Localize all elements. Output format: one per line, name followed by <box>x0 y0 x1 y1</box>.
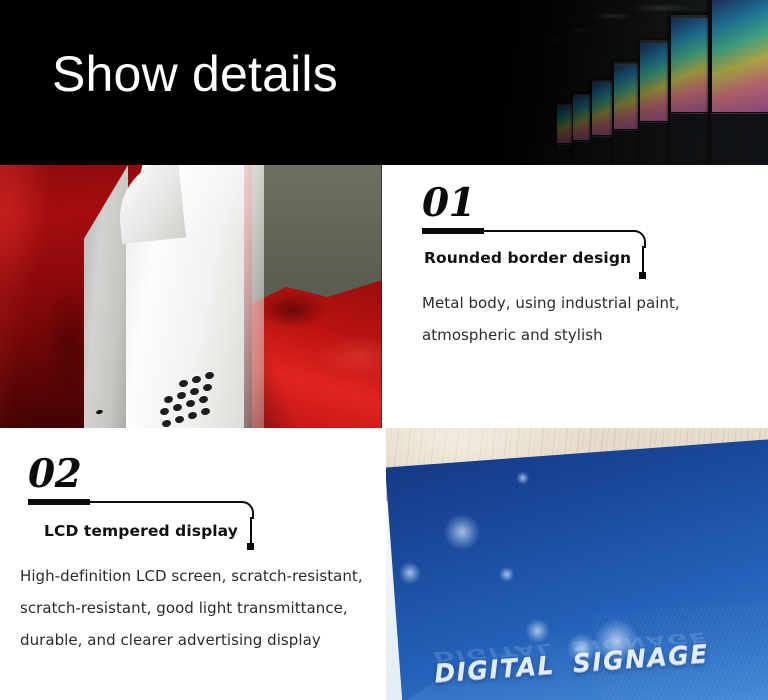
panel-02-number: 02 <box>28 455 81 494</box>
panel-02-body: High-definition LCD screen, scratch-resi… <box>20 560 363 656</box>
panel-01-body-line: Metal body, using industrial paint, <box>422 287 680 319</box>
rule-thin-line <box>482 230 632 232</box>
photo-bezel-corner <box>0 165 382 428</box>
panel-01: 01 Rounded border design Metal body, usi… <box>384 165 768 428</box>
panel-01-body-line: atmospheric and stylish <box>422 319 680 351</box>
panel-01-rule <box>422 223 475 243</box>
show-details-page: Show details 01 <box>0 0 768 700</box>
panel-02: 02 LCD tempered display High-definition … <box>0 428 382 700</box>
rule-drop-line <box>642 246 644 274</box>
panel-02-body-line: durable, and clearer advertising display <box>20 624 363 656</box>
photo-right-edge <box>381 165 382 428</box>
panel-01-number: 01 <box>422 184 475 223</box>
panel-02-subtitle: LCD tempered display <box>44 522 238 540</box>
photo-desk-screen: DIGITALSIGNAGE DIGITALSIGNAGE <box>386 428 768 700</box>
screen-bokeh <box>398 561 422 585</box>
rule-end-dot <box>247 543 254 550</box>
panel-02-rule <box>28 494 81 514</box>
panel-01-body: Metal body, using industrial paint, atmo… <box>422 287 680 351</box>
panel-01-header: 01 <box>422 184 475 243</box>
wood-desk-surface: DIGITALSIGNAGE DIGITALSIGNAGE <box>386 428 768 700</box>
speaker-grille <box>160 368 222 428</box>
rule-end-dot <box>639 272 646 279</box>
panel-02-header: 02 <box>28 455 81 514</box>
red-fabric-folds <box>0 165 96 428</box>
panel-02-body-line: scratch-resistant, good light transmitta… <box>20 592 363 624</box>
screen-bokeh <box>443 513 482 552</box>
panel-02-body-line: High-definition LCD screen, scratch-resi… <box>20 560 363 592</box>
screen-bokeh <box>516 471 530 485</box>
banner-header: Show details <box>0 0 768 165</box>
screen-bokeh <box>499 566 515 582</box>
rule-thick-bar <box>422 228 484 234</box>
panel-01-subtitle: Rounded border design <box>424 249 631 267</box>
page-title: Show details <box>52 49 338 99</box>
rule-thick-bar <box>28 499 90 505</box>
rule-thin-line <box>88 501 240 503</box>
photo-bezel-backdrop <box>0 165 382 428</box>
rule-drop-line <box>250 517 252 545</box>
